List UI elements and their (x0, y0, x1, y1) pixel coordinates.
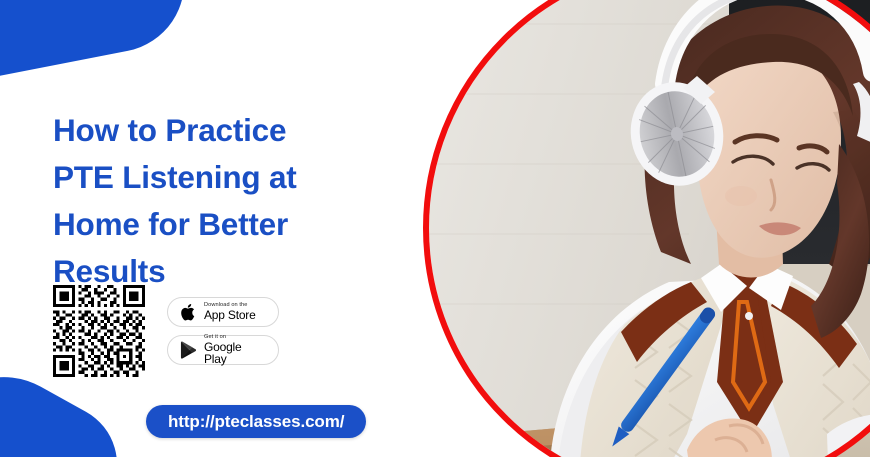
banner-canvas: How to Practice PTE Listening at Home fo… (0, 0, 870, 457)
apple-icon (179, 303, 196, 322)
google-play-badge-big-label: Google Play (204, 341, 267, 365)
website-url-pill[interactable]: http://pteclasses.com/ (146, 405, 366, 438)
app-store-badge-big-label: App Store (204, 309, 256, 321)
store-badge-group: Download on the App Store Get it on Goog… (167, 297, 279, 365)
app-store-badge[interactable]: Download on the App Store (167, 297, 279, 327)
headline-line-1: How to Practice (53, 107, 383, 154)
hero-photo (420, 0, 870, 457)
headline-line-2: PTE Listening at (53, 154, 383, 201)
photo-circle-mask (429, 0, 870, 457)
website-url-text: http://pteclasses.com/ (168, 412, 344, 432)
download-section: Download on the App Store Get it on Goog… (53, 285, 279, 377)
google-play-badge-text: Get it on Google Play (204, 335, 267, 366)
google-play-icon (179, 341, 196, 360)
headline-line-3: Home for Better (53, 201, 383, 248)
page-title: How to Practice PTE Listening at Home fo… (53, 107, 383, 295)
decorative-blob-top-left (0, 0, 196, 95)
qr-code[interactable] (53, 285, 145, 377)
google-play-badge[interactable]: Get it on Google Play (167, 335, 279, 365)
app-store-badge-text: Download on the App Store (204, 303, 256, 322)
